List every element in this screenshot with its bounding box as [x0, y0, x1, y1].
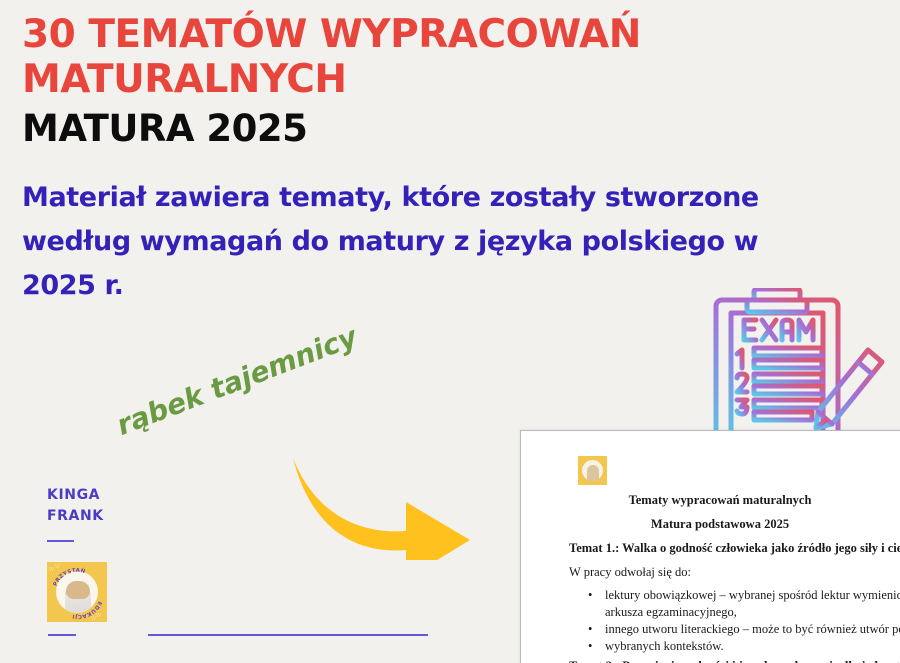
document-bullet-list: lektury obowiązkowej – wybranej spośród …: [569, 587, 900, 655]
document-subtitle: Matura podstawowa 2025: [521, 517, 900, 532]
subtitle-text: Materiał zawiera tematy, które zostały s…: [22, 176, 812, 308]
list-item: innego utworu literackiego – może to być…: [605, 621, 900, 638]
document-avatar-icon: [578, 456, 607, 485]
list-item: wybranych kontekstów.: [605, 638, 900, 655]
document-title: Tematy wypracowań maturalnych: [521, 493, 900, 508]
document-preview[interactable]: Tematy wypracowań maturalnych Matura pod…: [520, 430, 900, 663]
author-divider: [47, 540, 74, 542]
headline-black-text: MATURA 2025: [22, 106, 722, 152]
svg-text:EDUKACJI: EDUKACJI: [72, 600, 103, 619]
document-topic-2: Temat 2.: Pragnienie wolności i jego kon…: [569, 659, 900, 663]
headline-red-text: 30 TEMATÓW WYPRACOWAŃ MATURALNYCH: [22, 12, 722, 102]
headline-block: 30 TEMATÓW WYPRACOWAŃ MATURALNYCH MATURA…: [22, 12, 722, 152]
footer-divider-short: [48, 634, 76, 636]
footer-divider-long: [148, 634, 428, 636]
brand-logo-icon: WW WW PRZYSTAŃ EDUKACJI: [47, 562, 107, 622]
list-item: lektury obowiązkowej – wybranej spośród …: [605, 587, 900, 621]
handwritten-annotation: rąbek tajemnicy: [112, 320, 361, 442]
author-block: KINGA FRANK: [47, 485, 104, 542]
promo-slide: 30 TEMATÓW WYPRACOWAŃ MATURALNYCH MATURA…: [0, 0, 900, 663]
curved-arrow-right-icon: [290, 455, 475, 560]
logo-ring-top-text: PRZYSTAŃ: [53, 566, 87, 587]
document-lead-in: W pracy odwołaj się do:: [569, 565, 691, 580]
svg-text:PRZYSTAŃ: PRZYSTAŃ: [53, 566, 87, 587]
document-topic-1: Temat 1.: Walka o godność człowieka jako…: [569, 541, 900, 556]
logo-ring-text: PRZYSTAŃ EDUKACJI: [47, 562, 107, 622]
author-name: KINGA FRANK: [47, 485, 104, 527]
pencil-icon: [816, 350, 882, 428]
logo-ring-bottom-text: EDUKACJI: [72, 600, 103, 619]
document-avatar-person: [587, 465, 599, 481]
